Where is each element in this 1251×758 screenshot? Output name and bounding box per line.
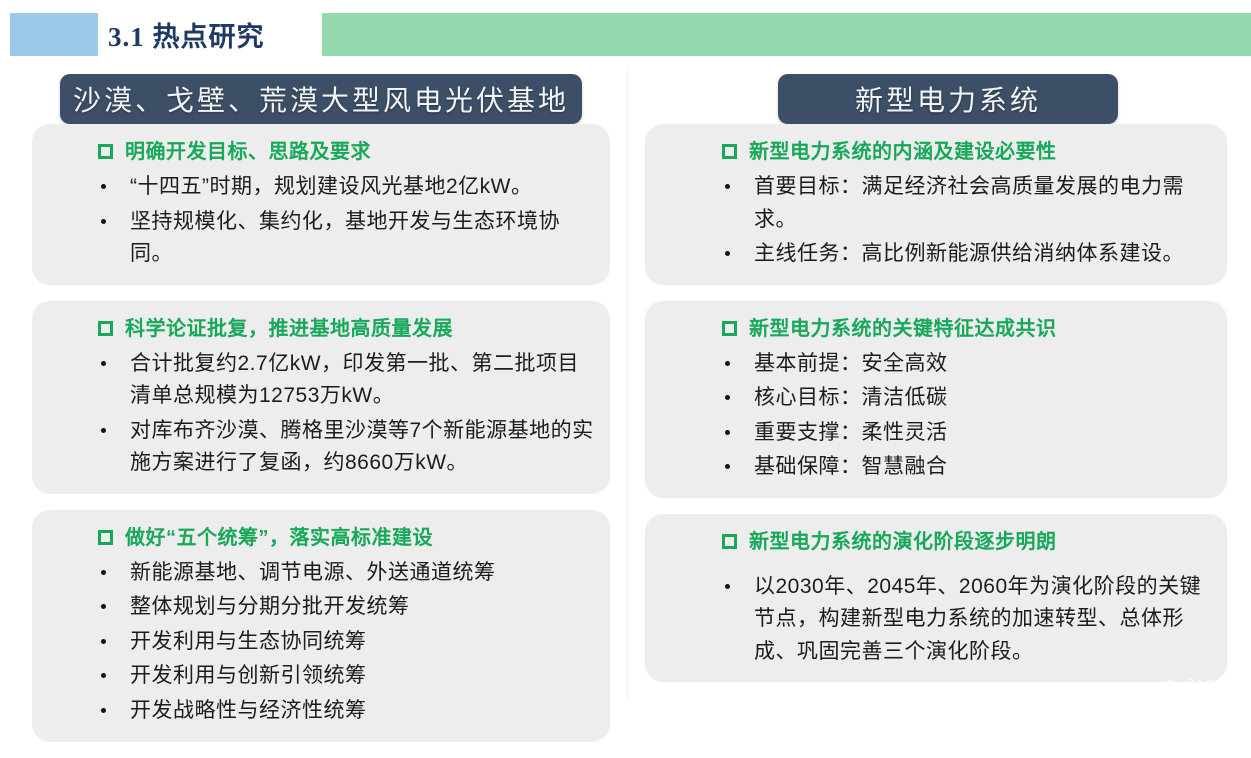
bullet-list-left-1: “十四五”时期，规划建设风光基地2亿kW。 坚持规模化、集约化，基地开发与生态环… (46, 171, 596, 271)
left-column: 沙漠、戈壁、荒漠大型风电光伏基地 明确开发目标、思路及要求 “十四五”时期，规划… (32, 66, 612, 758)
list-item: 核心目标：清洁低碳 (659, 382, 1213, 415)
dot-bullet-icon (101, 604, 106, 609)
list-item-text: 整体规划与分期分批开发统筹 (130, 591, 596, 624)
bullet-list-right-3: 以2030年、2045年、2060年为演化阶段的关键节点，构建新型电力系统的加速… (659, 571, 1213, 669)
dot-bullet-icon (101, 570, 106, 575)
list-item: 开发战略性与经济性统筹 (46, 695, 596, 728)
list-item: 首要目标：满足经济社会高质量发展的电力需求。 (659, 171, 1213, 236)
card-heading-text: 做好“五个统筹”，落实高标准建设 (125, 524, 433, 553)
card-heading-right-2: 新型电力系统的关键特征达成共识 (659, 315, 1213, 344)
list-item-text: “十四五”时期，规划建设风光基地2亿kW。 (130, 171, 596, 204)
header-blue-accent-block (10, 13, 98, 56)
list-item: 主线任务：高比例新能源供给消纳体系建设。 (659, 238, 1213, 271)
slide-header: 3.1 热点研究 (0, 0, 1251, 66)
list-item-text: 以2030年、2045年、2060年为演化阶段的关键节点，构建新型电力系统的加速… (754, 571, 1213, 669)
card-heading-left-1: 明确开发目标、思路及要求 (46, 138, 596, 167)
dot-bullet-icon (101, 184, 106, 189)
dot-bullet-icon (725, 251, 730, 256)
list-item-text: 新能源基地、调节电源、外送通道统筹 (130, 557, 596, 590)
square-bullet-icon (98, 530, 113, 545)
list-item: 基础保障：智慧融合 (659, 451, 1213, 484)
dot-bullet-icon (101, 219, 106, 224)
dot-bullet-icon (725, 584, 730, 589)
content-columns: 沙漠、戈壁、荒漠大型风电光伏基地 明确开发目标、思路及要求 “十四五”时期，规划… (0, 66, 1251, 699)
dot-bullet-icon (101, 361, 106, 366)
dot-bullet-icon (101, 639, 106, 644)
square-bullet-icon (722, 534, 737, 549)
square-bullet-icon (98, 321, 113, 336)
dot-bullet-icon (725, 184, 730, 189)
section-banner-desert-bases: 沙漠、戈壁、荒漠大型风电光伏基地 (60, 74, 582, 124)
bullet-list-right-2: 基本前提：安全高效 核心目标：清洁低碳 重要支撑：柔性灵活 基础保障：智慧融合 (659, 348, 1213, 484)
card-heading-text: 新型电力系统的关键特征达成共识 (749, 315, 1057, 344)
card-left-1: 明确开发目标、思路及要求 “十四五”时期，规划建设风光基地2亿kW。 坚持规模化… (32, 124, 610, 285)
list-item-text: 开发利用与生态协同统筹 (130, 626, 596, 659)
list-item-text: 开发利用与创新引领统筹 (130, 660, 596, 693)
list-item: 对库布齐沙漠、腾格里沙漠等7个新能源基地的实施方案进行了复函，约8660万kW。 (46, 415, 596, 480)
card-heading-right-1: 新型电力系统的内涵及建设必要性 (659, 138, 1213, 167)
list-item: 坚持规模化、集约化，基地开发与生态环境协同。 (46, 206, 596, 271)
card-heading-left-2: 科学论证批复，推进基地高质量发展 (46, 315, 596, 344)
list-item: “十四五”时期，规划建设风光基地2亿kW。 (46, 171, 596, 204)
list-item: 以2030年、2045年、2060年为演化阶段的关键节点，构建新型电力系统的加速… (659, 571, 1213, 669)
list-item: 合计批复约2.7亿kW，印发第一批、第二批项目清单总规模为12753万kW。 (46, 348, 596, 413)
list-item: 重要支撑：柔性灵活 (659, 417, 1213, 450)
card-heading-text: 明确开发目标、思路及要求 (125, 138, 371, 167)
list-item-text: 合计批复约2.7亿kW，印发第一批、第二批项目清单总规模为12753万kW。 (130, 348, 596, 413)
square-bullet-icon (722, 144, 737, 159)
list-item: 开发利用与创新引领统筹 (46, 660, 596, 693)
list-item-text: 首要目标：满足经济社会高质量发展的电力需求。 (754, 171, 1213, 236)
list-item-text: 重要支撑：柔性灵活 (754, 417, 1213, 450)
card-right-2: 新型电力系统的关键特征达成共识 基本前提：安全高效 核心目标：清洁低碳 重要支撑… (645, 301, 1227, 498)
right-column: 新型电力系统 新型电力系统的内涵及建设必要性 首要目标：满足经济社会高质量发展的… (645, 66, 1227, 698)
column-divider (627, 66, 628, 699)
card-heading-text: 新型电力系统的演化阶段逐步明朗 (749, 528, 1057, 557)
card-right-1: 新型电力系统的内涵及建设必要性 首要目标：满足经济社会高质量发展的电力需求。 主… (645, 124, 1227, 285)
bullet-list-right-1: 首要目标：满足经济社会高质量发展的电力需求。 主线任务：高比例新能源供给消纳体系… (659, 171, 1213, 271)
dot-bullet-icon (725, 430, 730, 435)
list-item-text: 基础保障：智慧融合 (754, 451, 1213, 484)
list-item-text: 主线任务：高比例新能源供给消纳体系建设。 (754, 238, 1213, 271)
list-item: 新能源基地、调节电源、外送通道统筹 (46, 557, 596, 590)
list-item-text: 对库布齐沙漠、腾格里沙漠等7个新能源基地的实施方案进行了复函，约8660万kW。 (130, 415, 596, 480)
list-item-text: 坚持规模化、集约化，基地开发与生态环境协同。 (130, 206, 596, 271)
card-right-3: 新型电力系统的演化阶段逐步明朗 以2030年、2045年、2060年为演化阶段的… (645, 514, 1227, 683)
list-item-text: 基本前提：安全高效 (754, 348, 1213, 381)
header-green-accent-bar (322, 13, 1251, 56)
list-item-text: 核心目标：清洁低碳 (754, 382, 1213, 415)
list-item: 开发利用与生态协同统筹 (46, 626, 596, 659)
dot-bullet-icon (725, 464, 730, 469)
card-heading-left-3: 做好“五个统筹”，落实高标准建设 (46, 524, 596, 553)
dot-bullet-icon (101, 673, 106, 678)
bullet-list-left-2: 合计批复约2.7亿kW，印发第一批、第二批项目清单总规模为12753万kW。 对… (46, 348, 596, 480)
dot-bullet-icon (725, 361, 730, 366)
list-item: 基本前提：安全高效 (659, 348, 1213, 381)
square-bullet-icon (98, 144, 113, 159)
bullet-list-left-3: 新能源基地、调节电源、外送通道统筹 整体规划与分期分批开发统筹 开发利用与生态协… (46, 557, 596, 728)
square-bullet-icon (722, 321, 737, 336)
card-heading-right-3: 新型电力系统的演化阶段逐步明朗 (659, 528, 1213, 557)
card-left-3: 做好“五个统筹”，落实高标准建设 新能源基地、调节电源、外送通道统筹 整体规划与… (32, 510, 610, 742)
dot-bullet-icon (725, 395, 730, 400)
card-heading-text: 科学论证批复，推进基地高质量发展 (125, 315, 453, 344)
list-item-text: 开发战略性与经济性统筹 (130, 695, 596, 728)
card-heading-text: 新型电力系统的内涵及建设必要性 (749, 138, 1057, 167)
page-title: 3.1 热点研究 (108, 11, 277, 57)
dot-bullet-icon (101, 428, 106, 433)
dot-bullet-icon (101, 708, 106, 713)
list-item: 整体规划与分期分批开发统筹 (46, 591, 596, 624)
section-banner-new-power-system: 新型电力系统 (778, 74, 1118, 124)
card-left-2: 科学论证批复，推进基地高质量发展 合计批复约2.7亿kW，印发第一批、第二批项目… (32, 301, 610, 494)
